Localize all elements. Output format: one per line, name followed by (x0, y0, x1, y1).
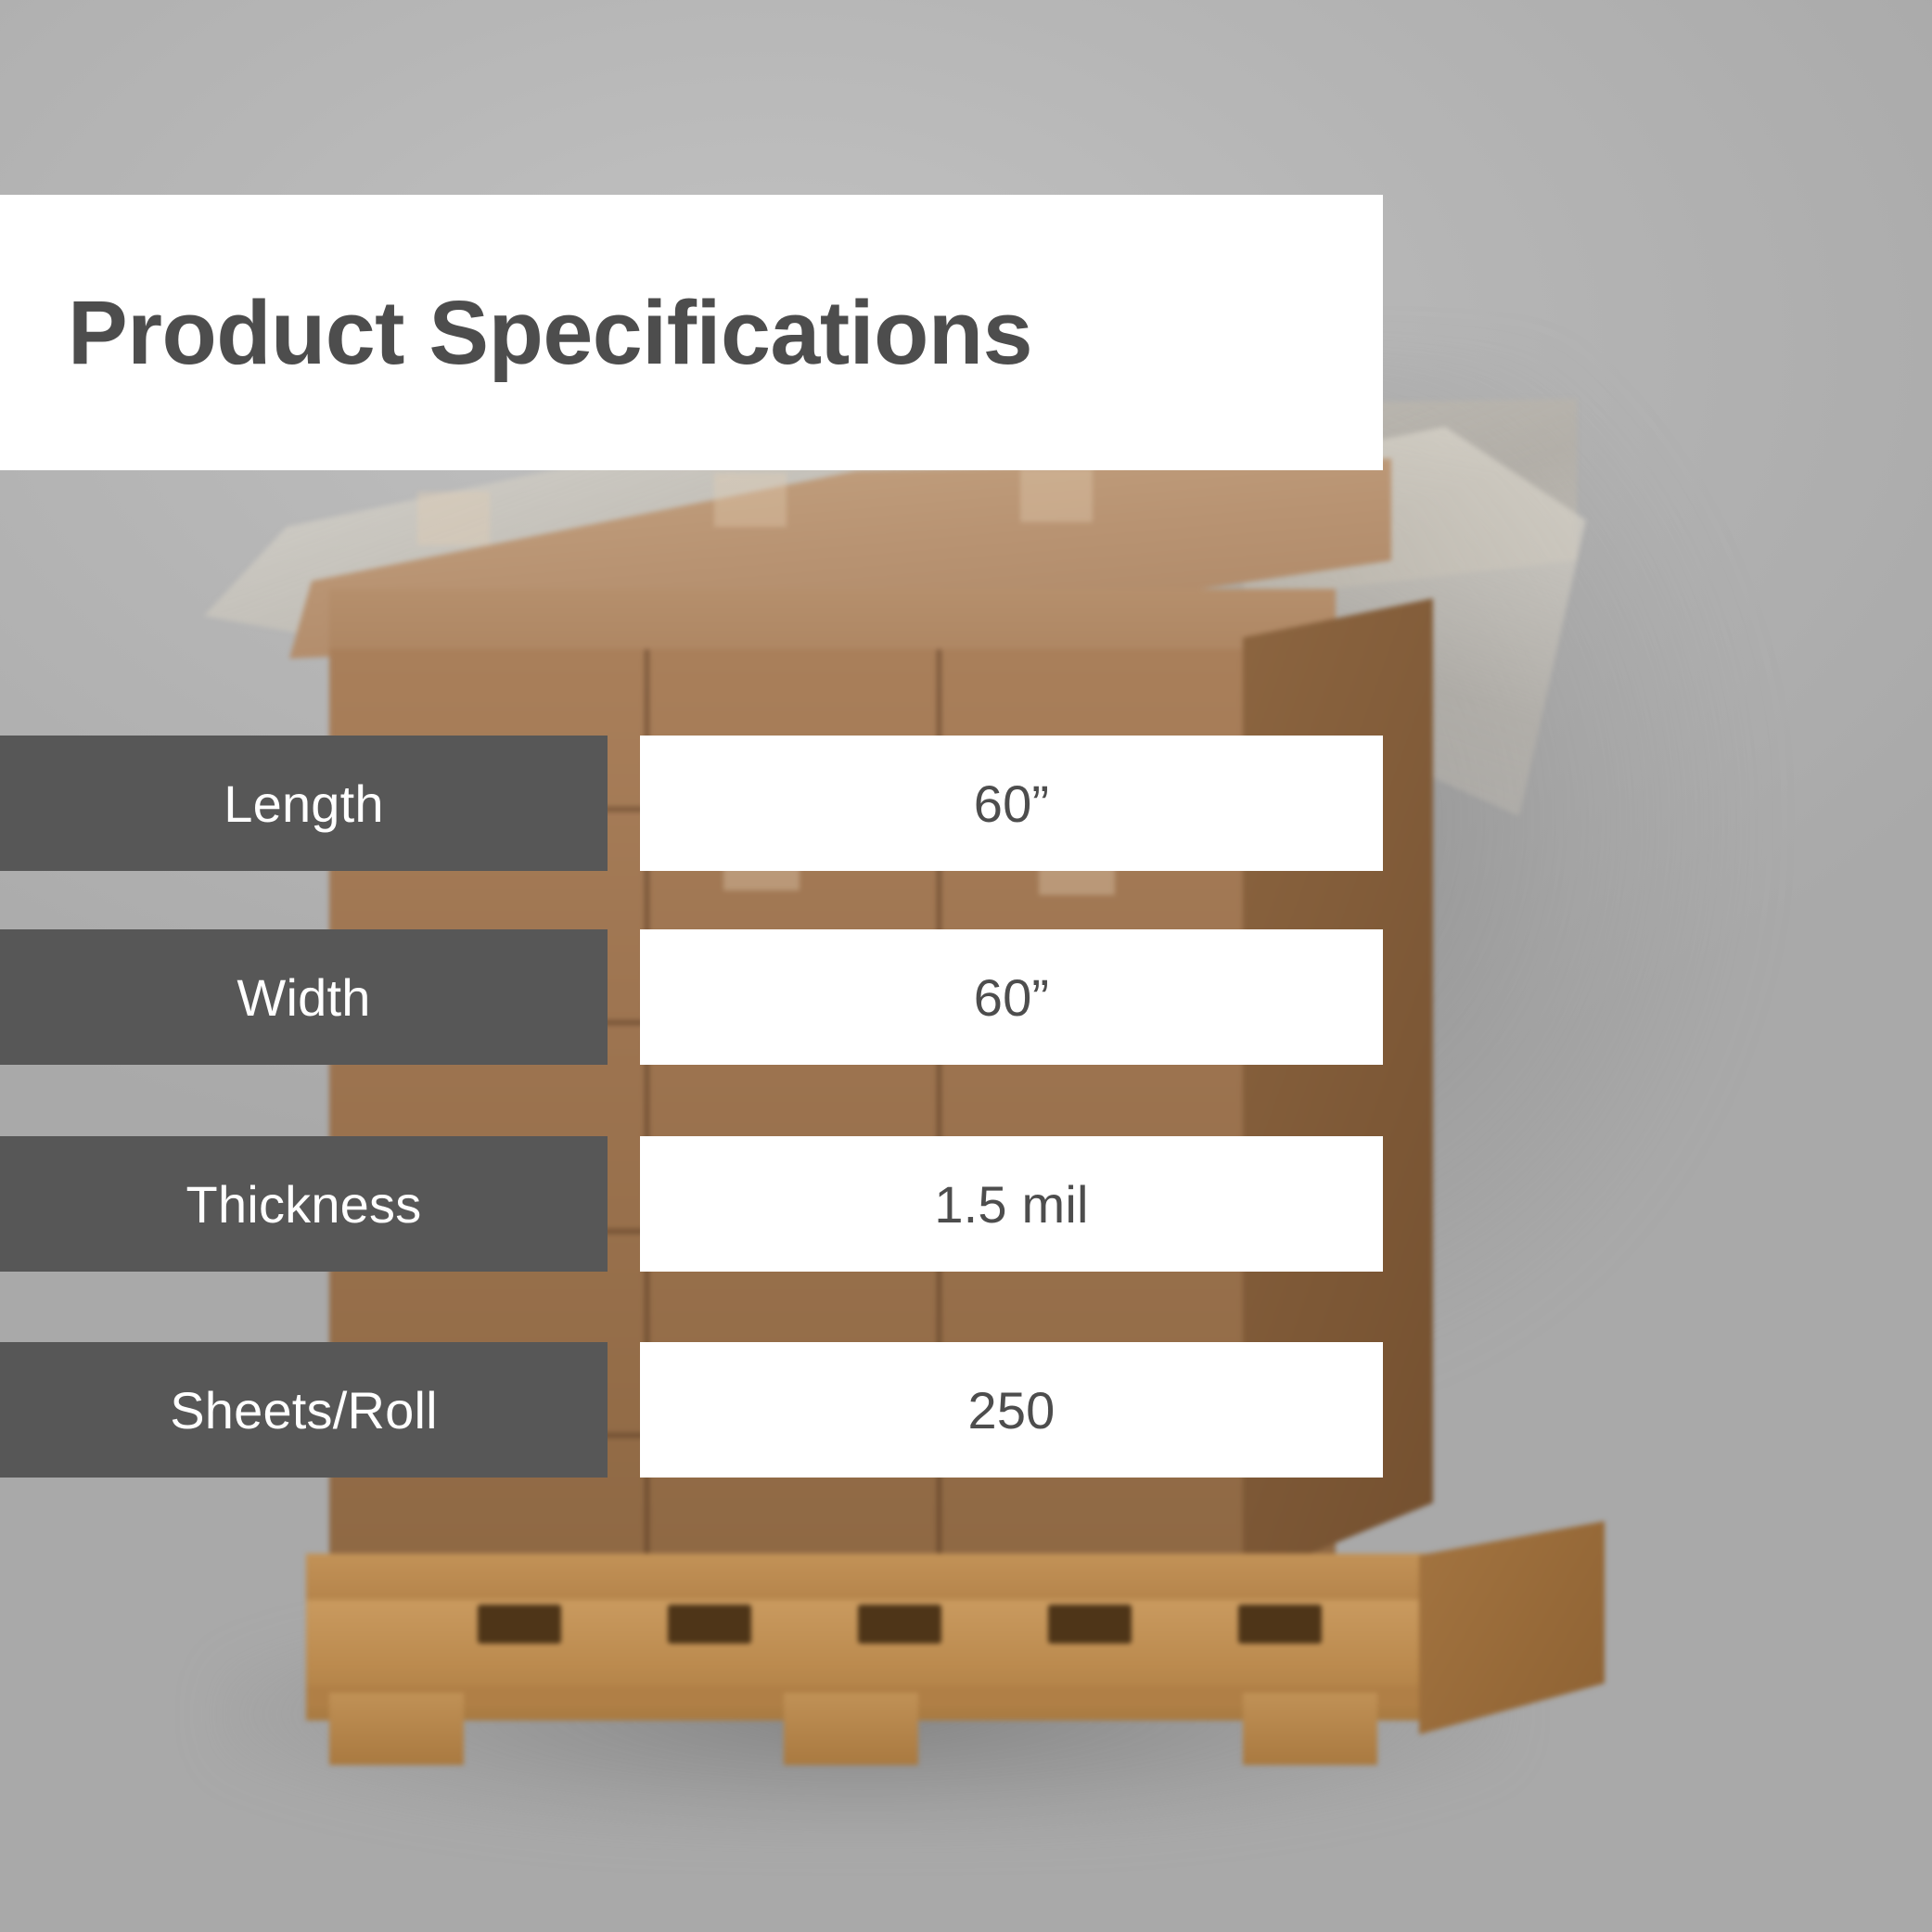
spec-value: 250 (640, 1342, 1383, 1478)
spec-gap (608, 736, 640, 871)
spec-label: Width (0, 929, 608, 1065)
spec-row-width: Width 60” (0, 929, 1383, 1065)
spec-gap (608, 929, 640, 1065)
pallet-notch (1048, 1605, 1132, 1644)
page-title: Product Specifications (68, 288, 1032, 377)
spec-value: 60” (640, 929, 1383, 1065)
pallet-deck-top (306, 1554, 1456, 1605)
spec-label: Thickness (0, 1136, 608, 1272)
pallet-notch (668, 1605, 751, 1644)
carton-tape (417, 492, 490, 545)
spec-value: 1.5 mil (640, 1136, 1383, 1272)
carton-tape (1020, 468, 1093, 522)
title-card: Product Specifications (0, 195, 1383, 470)
spec-row-thickness: Thickness 1.5 mil (0, 1136, 1383, 1272)
carton-tape (714, 473, 787, 527)
spec-value: 60” (640, 736, 1383, 871)
spec-gap (608, 1136, 640, 1272)
pallet-foot (1243, 1693, 1377, 1765)
spec-gap (608, 1342, 640, 1478)
spec-label: Sheets/Roll (0, 1342, 608, 1478)
spec-row-sheets-per-roll: Sheets/Roll 250 (0, 1342, 1383, 1478)
pallet-load (278, 371, 1512, 1762)
pallet-notch (858, 1605, 941, 1644)
pallet-foot (784, 1693, 918, 1765)
product-specifications-infographic: Product Specifications Length 60” Width … (0, 0, 1932, 1932)
pallet-side (1419, 1521, 1605, 1734)
spec-label: Length (0, 736, 608, 871)
spec-row-length: Length 60” (0, 736, 1383, 871)
pallet-notch (1238, 1605, 1322, 1644)
pallet-foot (329, 1693, 464, 1765)
pallet-notch (478, 1605, 561, 1644)
